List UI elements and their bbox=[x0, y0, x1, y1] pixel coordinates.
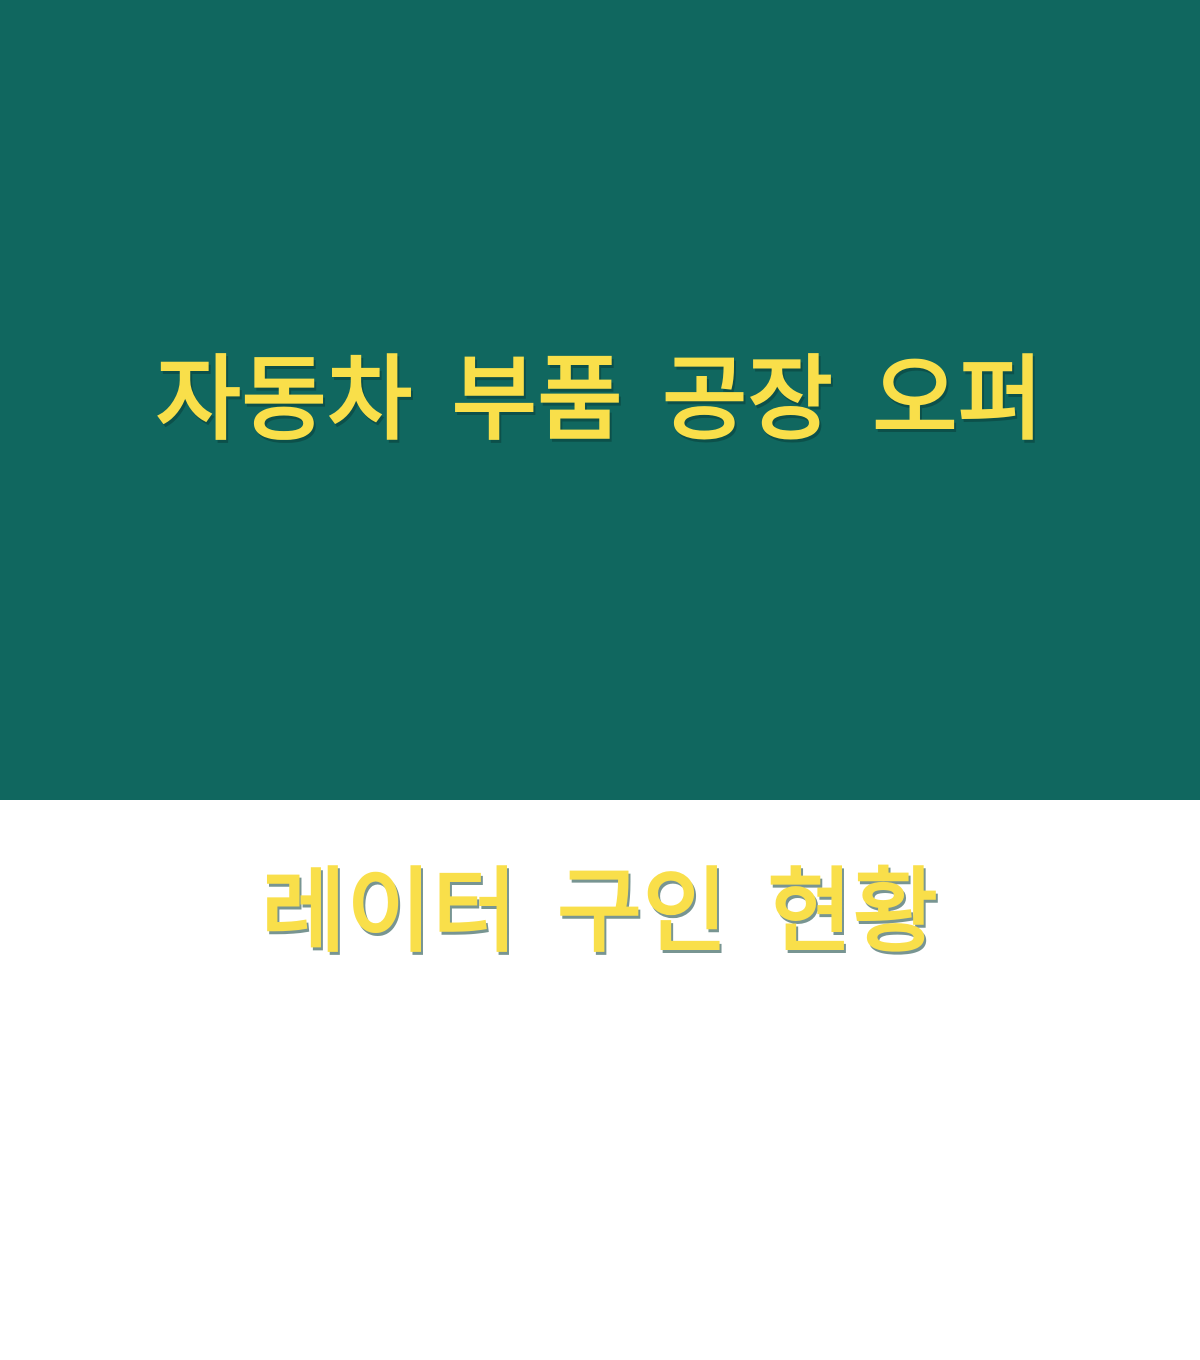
headline-line-2: 자동차 부품 공장 오퍼 bbox=[70, 336, 1130, 464]
thumbnail-card: 구미 교차로 구인구직 내 자동차 부품 공장 오퍼 레이터 구인 현황 bbox=[0, 0, 1200, 800]
headline-text-block: 구미 교차로 구인구직 내 자동차 부품 공장 오퍼 레이터 구인 현황 bbox=[70, 0, 1130, 1360]
headline-line-3: 레이터 구인 현황 bbox=[70, 848, 1130, 976]
